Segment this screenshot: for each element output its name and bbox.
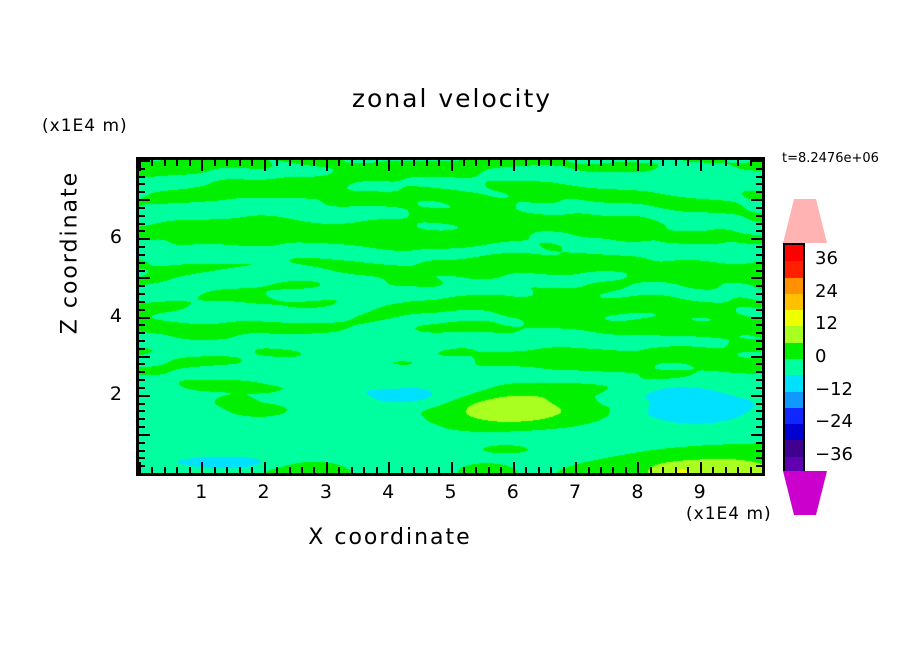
colorbar-tick-label: 24 xyxy=(815,281,838,302)
colorbar-band xyxy=(785,375,803,393)
colorbar-band xyxy=(785,359,803,377)
colorbar-band xyxy=(785,424,803,442)
colorbar-band xyxy=(785,408,803,426)
x-tick-label: 7 xyxy=(555,481,595,503)
colorbar-band xyxy=(785,294,803,312)
page-title: zonal velocity xyxy=(0,84,904,113)
colorbar-over-arrow xyxy=(783,199,827,243)
x-axis-unit-label: (x1E4 m) xyxy=(686,504,772,524)
colorbar-band xyxy=(785,261,803,279)
colorbar-band xyxy=(785,326,803,344)
y-tick-label: 6 xyxy=(96,226,122,248)
colorbar-tick-label: 36 xyxy=(815,248,838,269)
x-tick-label: 5 xyxy=(431,481,471,503)
x-axis-title: X coordinate xyxy=(0,525,780,550)
colorbar-tick-label: −24 xyxy=(815,411,853,432)
colorbar-band xyxy=(785,278,803,296)
y-axis-title: Z coordinate xyxy=(58,153,83,353)
x-tick-label: 4 xyxy=(368,481,408,503)
x-tick-label: 6 xyxy=(493,481,533,503)
colorbar-band xyxy=(785,392,803,410)
y-tick-label: 2 xyxy=(96,383,122,405)
y-axis-unit-label: (x1E4 m) xyxy=(42,116,128,136)
x-tick-label: 1 xyxy=(181,481,221,503)
colorbar-tick-label: −12 xyxy=(815,379,853,400)
x-tick-label: 3 xyxy=(306,481,346,503)
colorbar-band xyxy=(785,440,803,458)
colorbar-tick-label: 12 xyxy=(815,313,838,334)
x-tick-label: 8 xyxy=(617,481,657,503)
colorbar-under-arrow xyxy=(783,471,827,515)
timestamp-label: t=8.2476e+06 xyxy=(782,151,879,166)
x-tick-label: 9 xyxy=(680,481,720,503)
colorbar-band xyxy=(785,343,803,361)
colorbar-band xyxy=(785,245,803,263)
colorbar-tick-label: −36 xyxy=(815,444,853,465)
colorbar-tick-label: 0 xyxy=(815,346,826,367)
contour-plot-area xyxy=(136,157,765,476)
velocity-field-canvas xyxy=(139,160,762,473)
colorbar-band xyxy=(785,310,803,328)
x-tick-label: 2 xyxy=(244,481,284,503)
colorbar xyxy=(783,243,805,471)
y-tick-label: 4 xyxy=(96,305,122,327)
